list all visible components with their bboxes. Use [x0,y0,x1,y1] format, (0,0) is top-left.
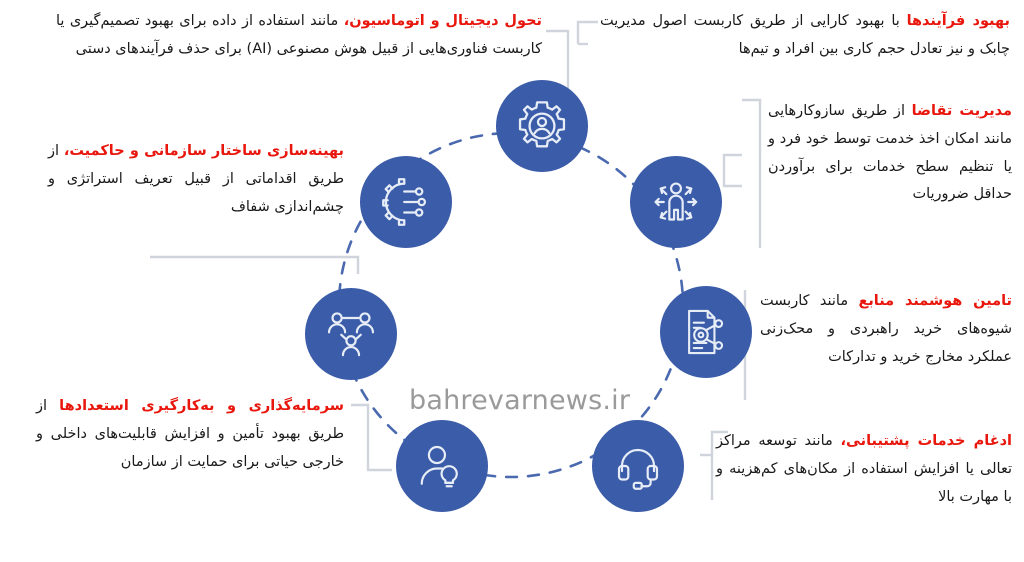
text-block-structure: بهینه‌سازی ساختار سازمانی و حاکمیت، از ط… [48,138,344,221]
leader-processes [578,22,598,44]
heading-sourcing: تامین هوشمند منابع [858,293,1012,309]
text-block-processes: بهبود فرآیندها با بهبود کارایی از طریق ک… [600,8,1010,64]
gear-person-icon [514,98,570,154]
leader-structure [150,257,358,274]
document-search-network-icon [679,305,733,359]
text-block-digital: تحول دیجیتال و اتوماسیون، مانند استفاده … [56,8,542,64]
person-lightbulb-icon [415,439,469,493]
heading-structure: بهینه‌سازی ساختار سازمانی و حاکمیت، [64,143,344,159]
text-block-sourcing: تامین هوشمند منابع مانند کاربست شیوه‌های… [760,288,1012,371]
node-talent[interactable] [396,420,488,512]
heading-digital: تحول دیجیتال و اتوماسیون، [344,13,542,29]
watermark: bahrevarnews.ir [409,385,630,416]
text-block-talent: سرمایه‌گذاری و به‌کارگیری استعدادها از ط… [36,393,344,476]
heading-demand: مدیریت تقاضا [912,103,1012,119]
headset-icon [611,439,665,493]
text-block-support: ادغام خدمات پشتیبانی، مانند توسعه مراکز … [716,428,1012,511]
infographic-canvas: bahrevarnews.ir [0,0,1024,562]
gear-circuit-icon [378,174,434,230]
person-arrows-icon [648,174,704,230]
leader-demand [742,100,760,248]
text-block-demand: مدیریت تقاضا از طریق سازوکارهایی مانند ا… [768,98,1012,209]
node-demand[interactable] [630,156,722,248]
node-processes[interactable] [496,80,588,172]
node-sourcing[interactable] [660,286,752,378]
people-network-icon [324,307,378,361]
node-support[interactable] [592,420,684,512]
heading-talent: سرمایه‌گذاری و به‌کارگیری استعدادها [59,398,344,414]
node-digital[interactable] [360,156,452,248]
leader-demand-elbow [724,155,742,186]
leader-talent [351,405,392,470]
heading-processes: بهبود فرآیندها [907,13,1010,29]
heading-support: ادغام خدمات پشتیبانی، [840,433,1012,449]
node-structure[interactable] [305,288,397,380]
